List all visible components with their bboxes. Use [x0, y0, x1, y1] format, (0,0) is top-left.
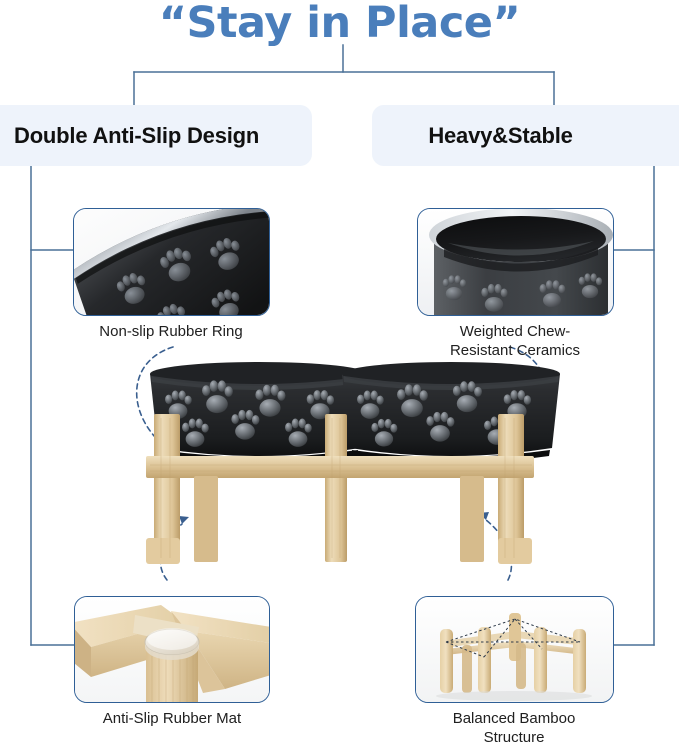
bamboo-leg-rubber-pad-image	[75, 597, 269, 702]
header-heavy-and-stable[interactable]: Heavy&Stable	[372, 105, 679, 166]
caption-anti-slip-rubber-mat: Anti-Slip Rubber Mat	[57, 709, 287, 728]
caption-line: Weighted Chew-	[400, 322, 630, 341]
infographic-canvas: “Stay in Place”	[0, 0, 679, 742]
bowl-right	[342, 362, 560, 463]
header-label: Double Anti-Slip Design	[14, 123, 259, 149]
photo-weighted-chew-resistant-ceramics[interactable]	[417, 208, 614, 316]
black-bowl-rim-image	[74, 209, 269, 315]
hero-product-image	[120, 352, 560, 587]
caption-non-slip-rubber-ring: Non-slip Rubber Ring	[56, 322, 286, 341]
page-title: “Stay in Place”	[0, 0, 679, 48]
bamboo-stand-structure-image	[416, 597, 613, 702]
header-label: Heavy&Stable	[428, 123, 572, 149]
header-double-anti-slip-design[interactable]: Double Anti-Slip Design	[0, 105, 312, 166]
photo-anti-slip-rubber-mat[interactable]	[74, 596, 270, 703]
caption-line: Non-slip Rubber Ring	[56, 322, 286, 341]
caption-line: Anti-Slip Rubber Mat	[57, 709, 287, 728]
caption-line: Balanced Bamboo	[399, 709, 629, 728]
caption-balanced-bamboo-structure: Balanced Bamboo Structure	[399, 709, 629, 747]
black-bowl-interior-image	[418, 209, 613, 315]
caption-line: Structure	[399, 728, 629, 747]
photo-balanced-bamboo-structure[interactable]	[415, 596, 614, 703]
photo-non-slip-rubber-ring[interactable]	[73, 208, 270, 316]
